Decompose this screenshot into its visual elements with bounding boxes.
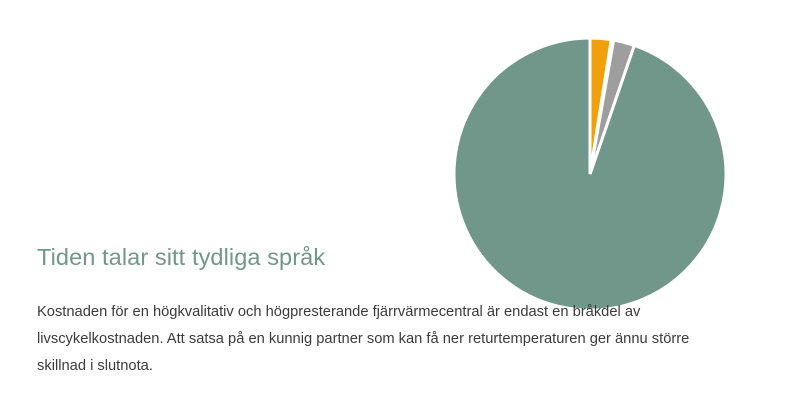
pie-slice xyxy=(590,40,634,174)
text-block: Tiden talar sitt tydliga språk Kostnaden… xyxy=(37,242,717,380)
pie-slice xyxy=(590,38,611,174)
body-paragraph: Kostnaden för en högkvalitativ och högpr… xyxy=(37,272,702,380)
page-title: Tiden talar sitt tydliga språk xyxy=(37,242,717,272)
screenshot-root: Tiden talar sitt tydliga språk Kostnaden… xyxy=(0,0,800,400)
